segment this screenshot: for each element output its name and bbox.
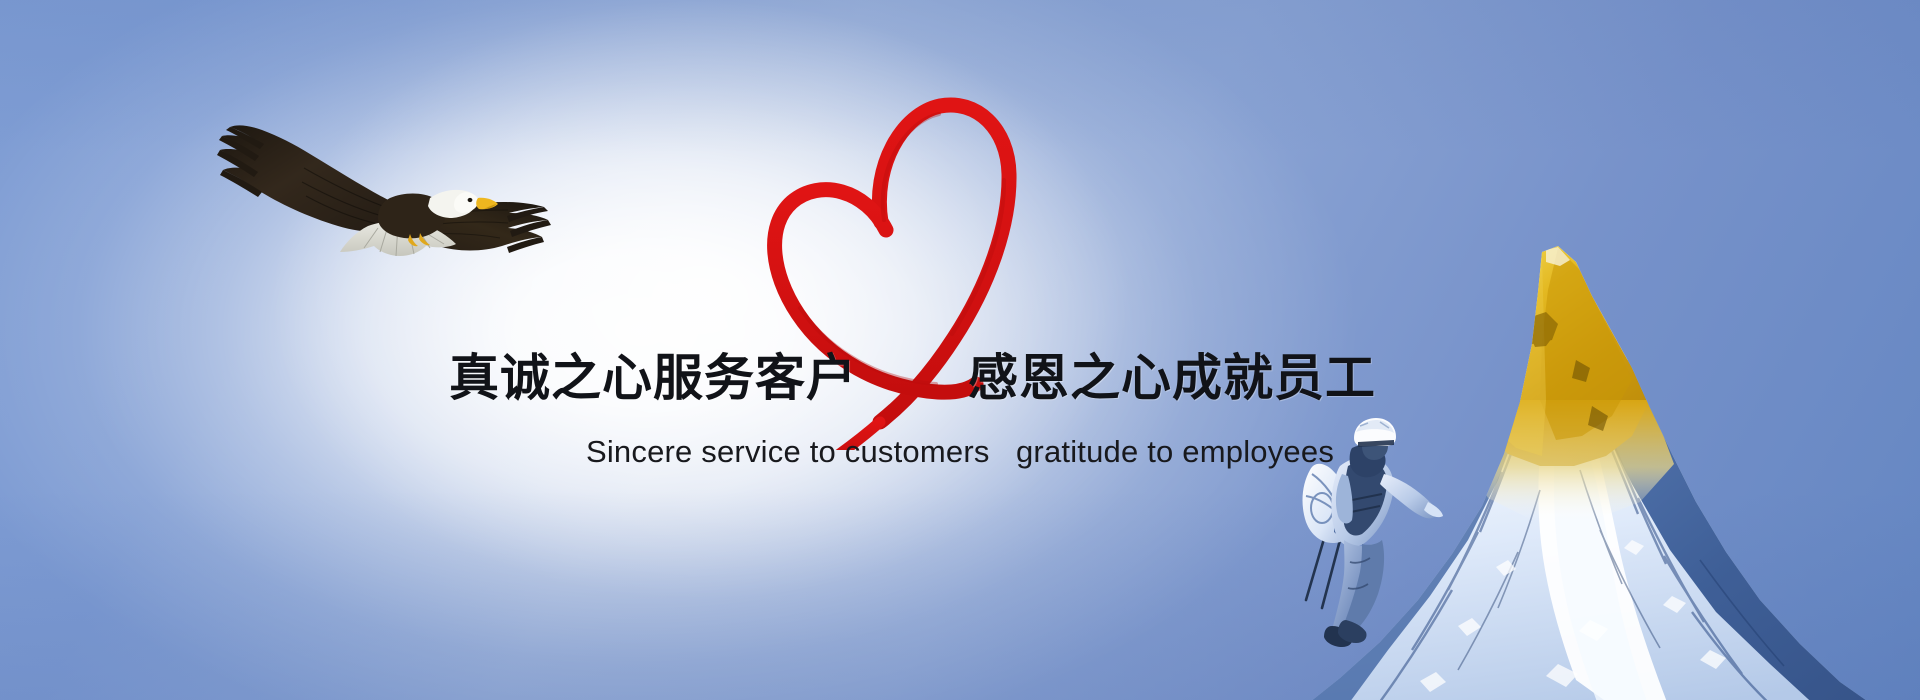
heart-icon	[760, 70, 1110, 450]
subtitle: Sincere service to customers gratitude t…	[0, 430, 1920, 474]
corporate-culture-banner: 真诚之心服务客户 感恩之心成就员工 Sincere service to cus…	[0, 0, 1920, 700]
eagle-icon	[182, 86, 582, 286]
subtitle-text: Sincere service to customers gratitude t…	[586, 430, 1334, 474]
